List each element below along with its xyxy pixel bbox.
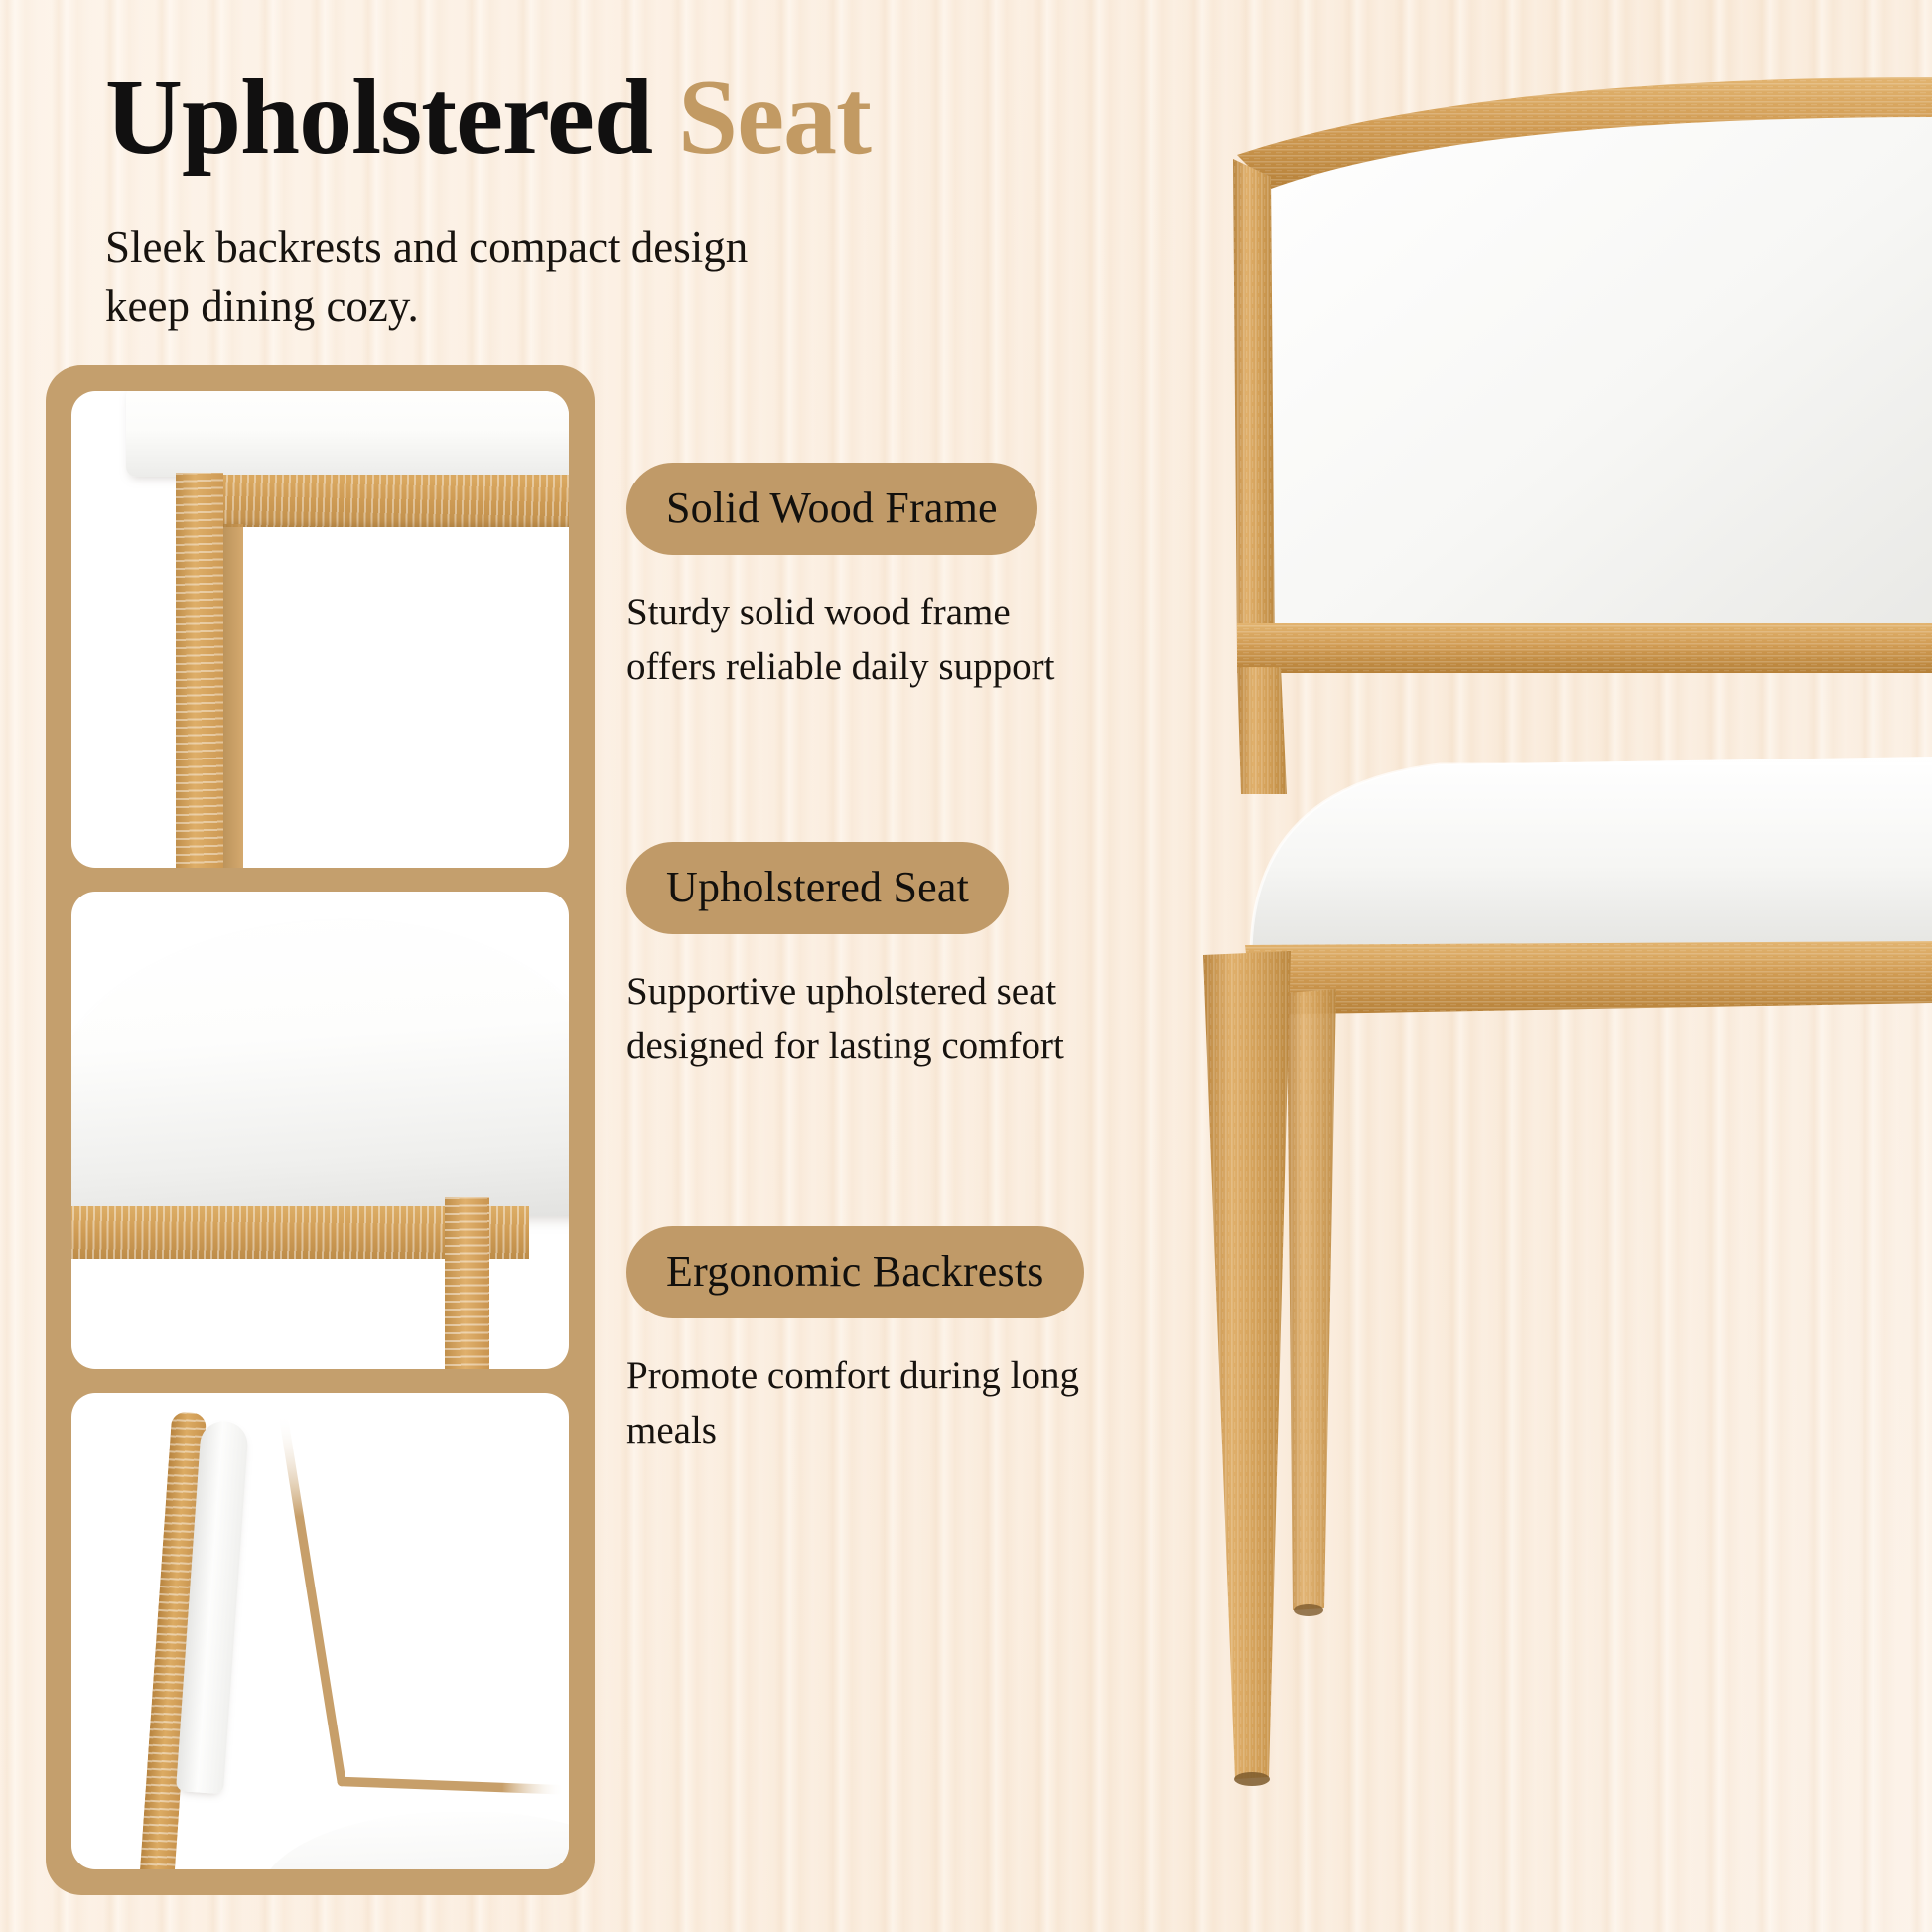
feature-pill-ergonomic-backrests[interactable]: Ergonomic Backrests: [626, 1226, 1084, 1318]
hero-chair-image: [1142, 0, 1932, 1932]
wood-leg: [445, 1197, 489, 1369]
seat-cushion: [1251, 757, 1932, 953]
feature-description-2: Supportive upholstered seat designed for…: [626, 964, 1083, 1074]
title-dark-part: Upholstered: [105, 59, 652, 177]
title-accent-part: Seat: [652, 59, 871, 177]
wood-front-leg: [1203, 951, 1291, 1786]
collage-panel-side-profile: [71, 1393, 569, 1869]
feature-block-3: Ergonomic Backrests Promote comfort duri…: [626, 1226, 1093, 1458]
feature-block-1: Solid Wood Frame Sturdy solid wood frame…: [626, 463, 1093, 695]
page-subtitle: Sleek backrests and compact design keep …: [105, 218, 800, 335]
wood-back-stile: [1233, 159, 1275, 655]
feature-description-1: Sturdy solid wood frame offers reliable …: [626, 585, 1083, 695]
wood-seat-apron: [1245, 941, 1932, 1015]
feature-description-3: Promote comfort during long meals: [626, 1348, 1083, 1458]
photo-collage-frame: [46, 365, 595, 1895]
wood-lower-back-rail: [1237, 623, 1932, 673]
page-title: Upholstered Seat: [105, 62, 1098, 175]
feature-pill-upholstered-seat[interactable]: Upholstered Seat: [626, 842, 1009, 934]
collage-panel-seat-corner: [71, 391, 569, 868]
wood-apron-rail: [206, 475, 569, 527]
wood-rear-leg: [1287, 989, 1336, 1616]
ergonomic-angle-annotation-icon: [71, 1393, 569, 1869]
wood-front-leg: [176, 473, 223, 869]
upholstery-edge: [126, 391, 569, 477]
backrest-upholstery: [1269, 95, 1932, 631]
feature-block-2: Upholstered Seat Supportive upholstered …: [626, 842, 1093, 1074]
headline-block: Upholstered Seat Sleek backrests and com…: [105, 62, 1098, 335]
seat-cushion: [71, 920, 569, 1216]
wood-stile-to-seat: [1237, 667, 1287, 794]
infographic-canvas: Upholstered Seat Sleek backrests and com…: [0, 0, 1932, 1932]
feature-pill-solid-wood-frame[interactable]: Solid Wood Frame: [626, 463, 1037, 555]
wood-rear-leg: [223, 524, 243, 868]
collage-panel-seat-cushion: [71, 892, 569, 1368]
